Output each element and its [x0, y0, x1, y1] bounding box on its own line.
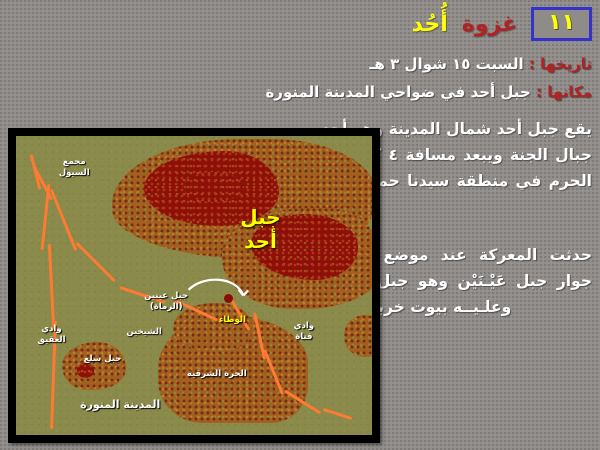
map-label-line: وادي — [37, 324, 65, 335]
wadi-line-diag-2 — [50, 189, 77, 251]
map-label-line: جبل سلع — [84, 354, 122, 365]
map-label-line: العقيق — [37, 335, 65, 346]
map-label-jabal-uhud: جبلأحد — [240, 205, 280, 253]
map-label-line: وادي — [294, 321, 314, 332]
map-label-line: الوطاء — [219, 315, 246, 326]
map-label-line: (الرماة) — [144, 302, 188, 313]
map-frame: مجمعالسيولجبلأحدجبل عينين(الرماة)الوطاءا… — [8, 128, 380, 443]
map-label-line: السيول — [59, 168, 90, 179]
map-label-wadi-aqiq: واديالعقيق — [37, 324, 65, 346]
place-line: مكانها : جبل أحد في ضواحي المدينة المنور… — [322, 78, 592, 106]
date-value: السبت ١٥ شوال ٣ هـ — [369, 55, 523, 73]
terrain-jabal-sala — [62, 342, 126, 390]
page-title-sub: أُحُد — [412, 12, 448, 37]
map-canvas[interactable]: مجمعالسيولجبلأحدجبل عينين(الرماة)الوطاءا… — [16, 136, 372, 435]
wadi-line-diag-10 — [323, 408, 352, 420]
map-label-al-harra-sharqiya: الحرة الشرقية — [187, 369, 247, 380]
map-label-line: جبل عينين — [144, 291, 188, 302]
wadi-line-diag-1 — [32, 164, 53, 200]
lesson-number-badge: ١١ — [531, 7, 592, 41]
place-label: مكانها : — [536, 83, 592, 101]
map-label-line: الشيخين — [126, 327, 161, 338]
map-label-al-madina: المدينة المنورة — [80, 399, 160, 410]
page-title-main: غزوة — [462, 12, 517, 37]
terrain-uhud-core-spur — [183, 172, 244, 202]
map-label-majma-suyul: مجمعالسيول — [59, 157, 90, 179]
date-line: تاريخها : السبت ١٥ شوال ٣ هـ — [322, 50, 592, 78]
battle-arrow-icon — [187, 274, 265, 310]
map-label-jabal-sala: جبل سلع — [84, 354, 122, 365]
wadi-line-diag-3 — [76, 241, 116, 281]
map-label-al-wataa: الوطاء — [219, 315, 246, 326]
map-label-line: قناة — [294, 332, 314, 343]
map-label-jabal-ainain: جبل عينين(الرماة) — [144, 291, 188, 313]
map-label-line: أحد — [240, 229, 280, 253]
map-label-line: المدينة المنورة — [80, 399, 160, 410]
map-label-line: جبل — [240, 205, 280, 229]
date-label: تاريخها : — [529, 55, 592, 73]
place-value: جبل أحد في ضواحي المدينة المنورة — [265, 83, 530, 101]
map-label-line: الحرة الشرقية — [187, 369, 247, 380]
slide-header: ١١ غزوة أُحُد — [330, 4, 592, 44]
map-label-line: مجمع — [59, 157, 90, 168]
slide-background: ١١ غزوة أُحُد تاريخها : السبت ١٥ شوال ٣ … — [0, 0, 600, 450]
wadi-line-west-2 — [48, 244, 55, 328]
terrain-east-edge — [344, 315, 372, 357]
map-label-ash-shaykhayn: الشيخين — [126, 327, 161, 338]
map-label-wadi-qanat: واديقناة — [294, 321, 314, 343]
